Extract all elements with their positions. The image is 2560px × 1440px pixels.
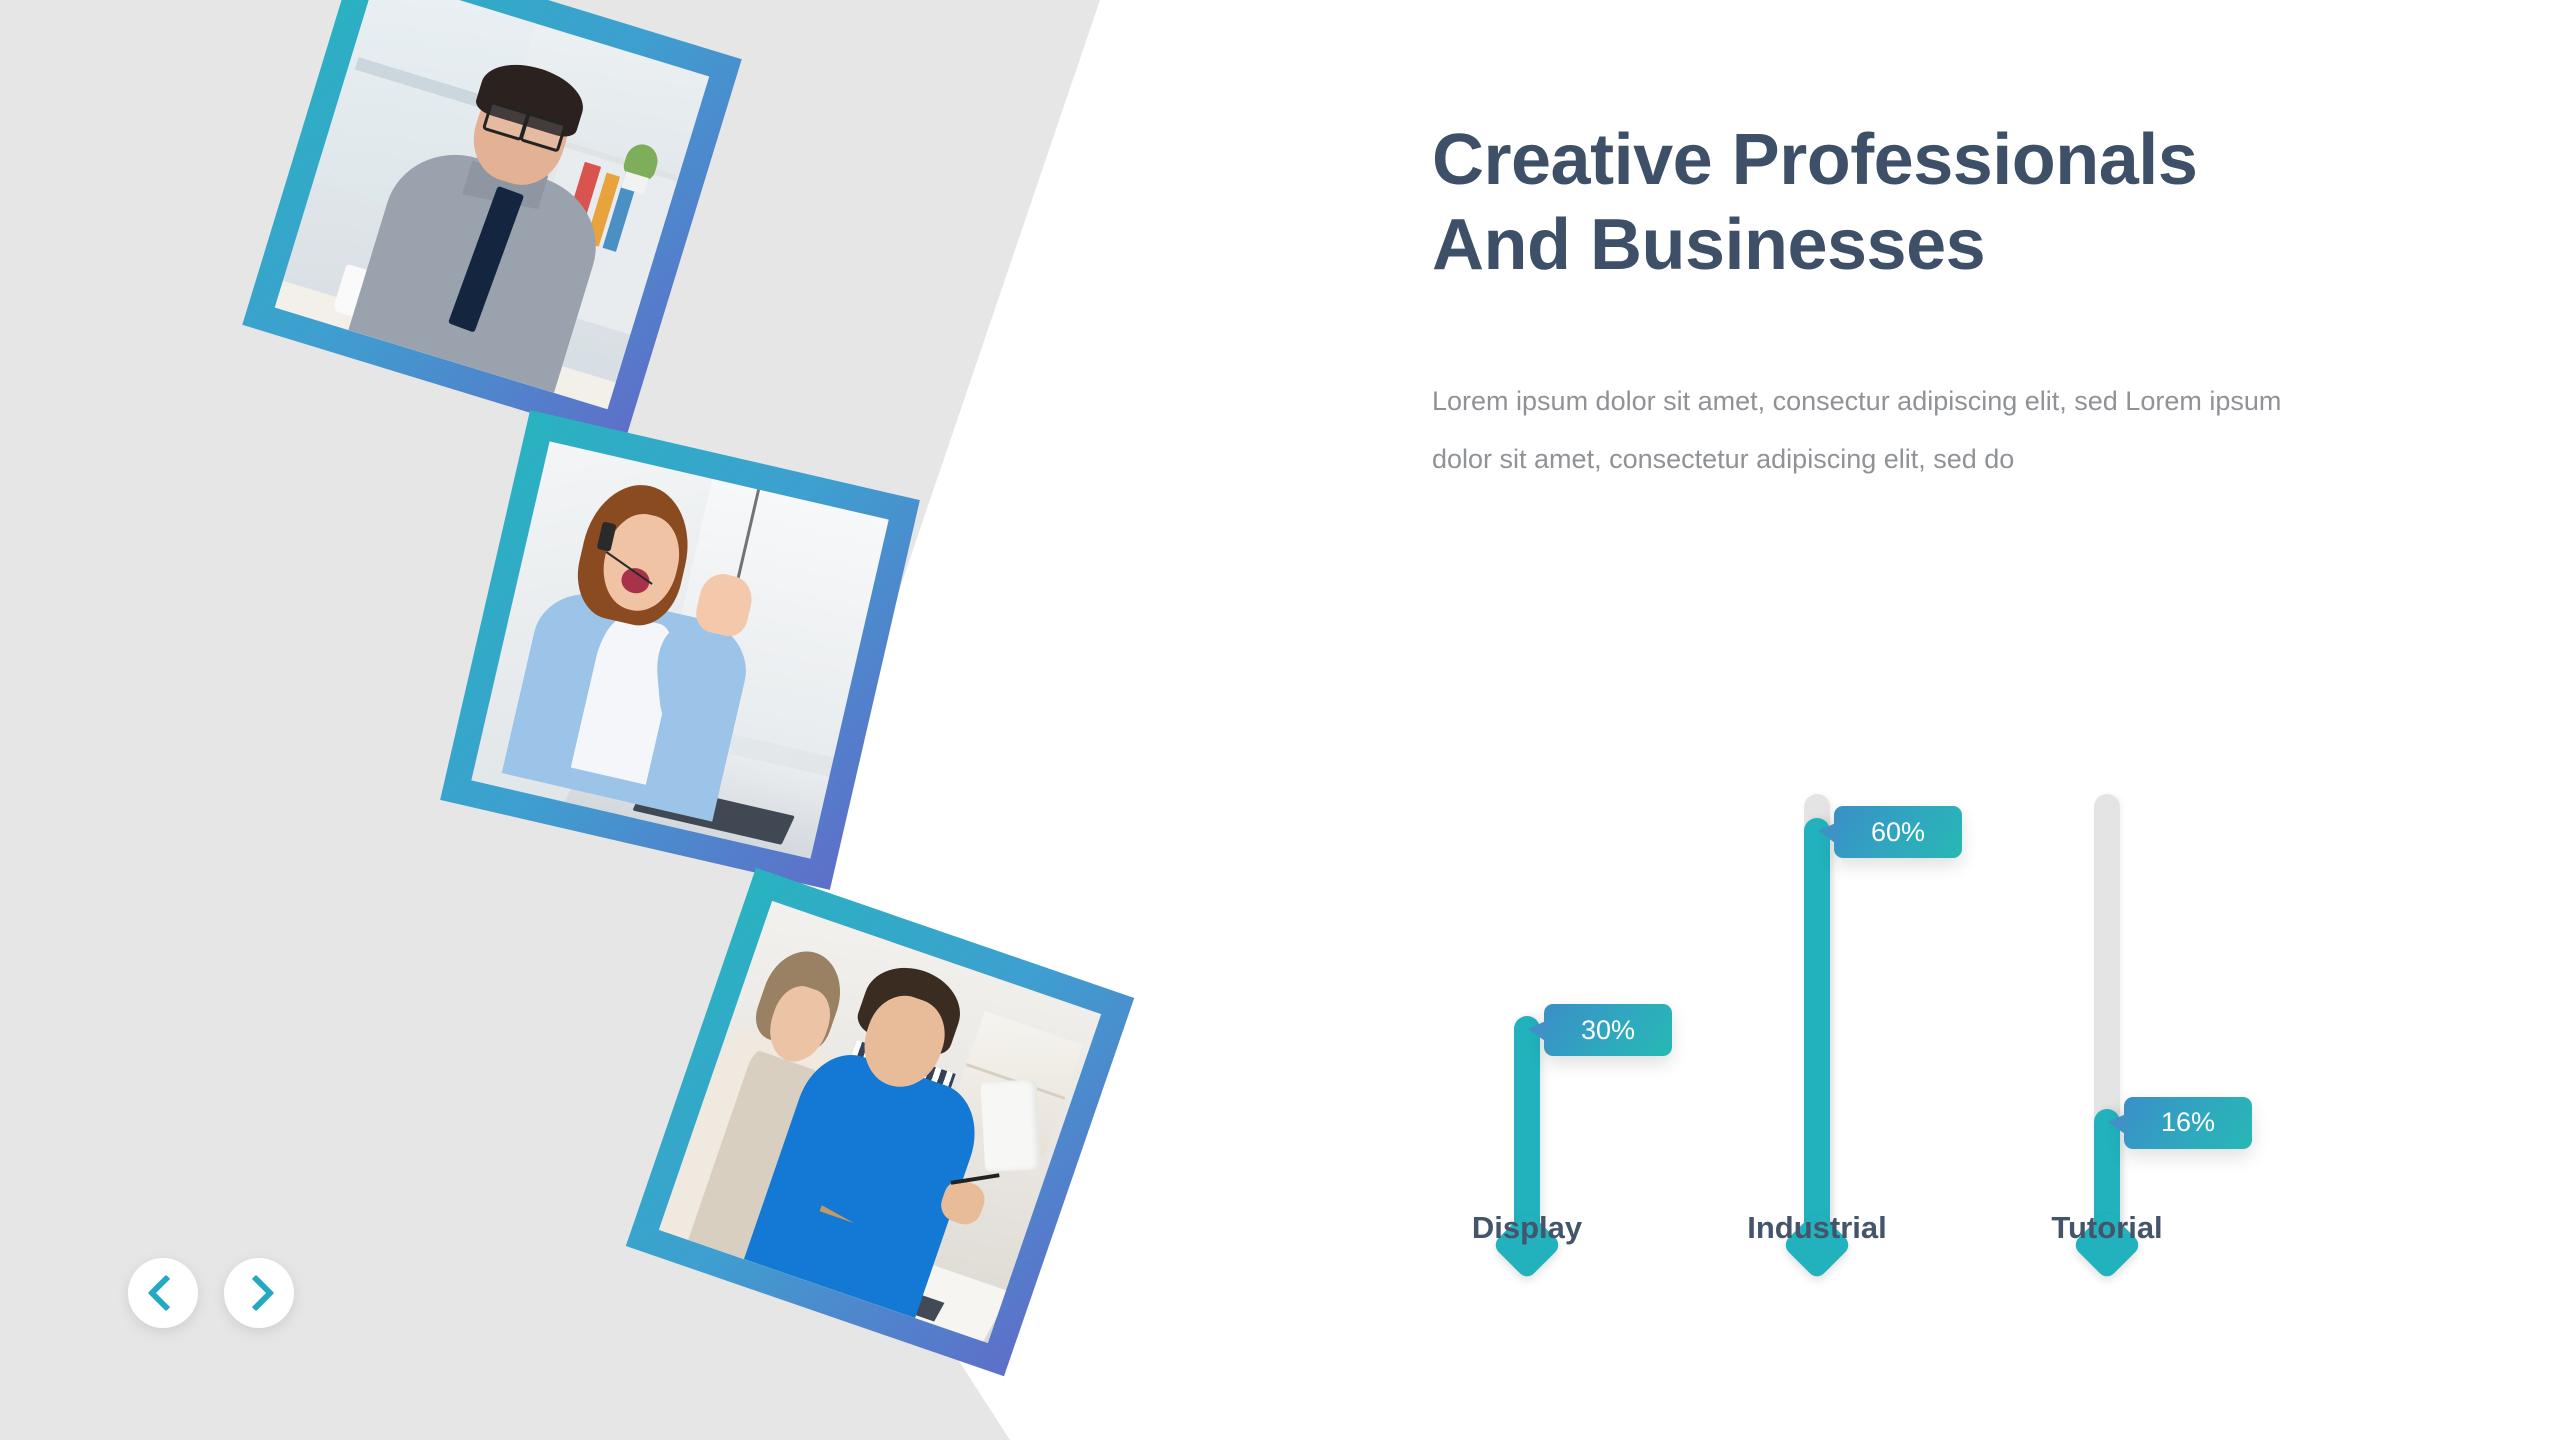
body-paragraph: Lorem ipsum dolor sit amet, consectur ad…	[1432, 288, 2282, 488]
photo-card-team-collaboration[interactable]	[626, 868, 1134, 1376]
carousel-next-button[interactable]	[224, 1258, 294, 1328]
gauge-category-label: Tutorial	[2012, 1210, 2202, 1246]
page-title-line-1: Creative Professionals	[1432, 120, 2197, 200]
gauge-fill	[1804, 818, 1830, 1254]
gauge-column: 30%	[1432, 774, 1622, 1274]
gauge-category-label: Display	[1432, 1210, 1622, 1246]
slide-canvas: Creative Professionals And Businesses Lo…	[0, 0, 2560, 1440]
gauge-column: 16%	[2012, 774, 2202, 1274]
photo-image-professional-man	[275, 0, 710, 409]
photo-card-support-agent[interactable]	[440, 410, 920, 890]
chevron-left-icon	[148, 1275, 185, 1312]
page-title: Creative Professionals And Businesses	[1432, 0, 2482, 288]
gauge-bar-chart: 30%Display60%Industrial16%Tutorial	[1432, 770, 2332, 1370]
carousel-navigation	[128, 1258, 294, 1328]
gauge-bar-display[interactable]: 30%Display	[1432, 774, 1622, 1274]
photo-image-support-agent	[471, 441, 888, 858]
gauge-bar-tutorial[interactable]: 16%Tutorial	[2012, 774, 2202, 1274]
photo-image-team-collaboration	[659, 901, 1101, 1343]
page-title-line-2: And Businesses	[1432, 203, 2482, 288]
photo-collage	[0, 0, 1250, 1440]
chevron-right-icon	[238, 1275, 275, 1312]
carousel-prev-button[interactable]	[128, 1258, 198, 1328]
gauge-bar-industrial[interactable]: 60%Industrial	[1722, 774, 1912, 1274]
gauge-column: 60%	[1722, 774, 1912, 1274]
photo-card-professional-man[interactable]	[242, 0, 741, 442]
gauge-value-badge: 60%	[1834, 806, 1962, 858]
gauge-value-badge: 16%	[2124, 1097, 2252, 1149]
gauge-value-badge: 30%	[1544, 1004, 1672, 1056]
gauge-category-label: Industrial	[1722, 1210, 1912, 1246]
